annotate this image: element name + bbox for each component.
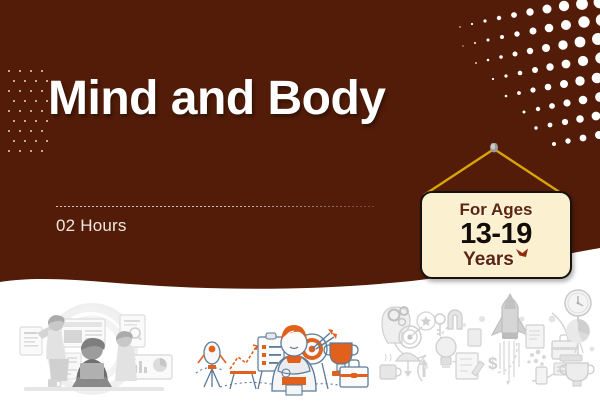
slide-canvas: Mind and Body 02 Hours For Ages 13-19 Ye… bbox=[0, 0, 600, 407]
dashed-divider-line bbox=[56, 206, 374, 207]
duration-label: 02 Hours bbox=[56, 216, 127, 236]
team-collaboration-illustration bbox=[4, 301, 184, 397]
badge-years-label: Years bbox=[463, 250, 514, 269]
business-success-illustration bbox=[190, 295, 370, 399]
badge-for-ages-label: For Ages bbox=[459, 201, 532, 219]
badge-years-row: Years bbox=[463, 250, 529, 269]
badge-age-range: 13-19 bbox=[460, 220, 532, 249]
svg-text:$: $ bbox=[488, 354, 498, 373]
page-title: Mind and Body bbox=[48, 74, 385, 124]
brown-check-mark-icon bbox=[515, 248, 529, 260]
startup-launch-illustration: $ bbox=[366, 289, 600, 393]
age-badge: For Ages 13-19 Years bbox=[412, 143, 592, 283]
age-badge-card: For Ages 13-19 Years bbox=[420, 191, 572, 279]
